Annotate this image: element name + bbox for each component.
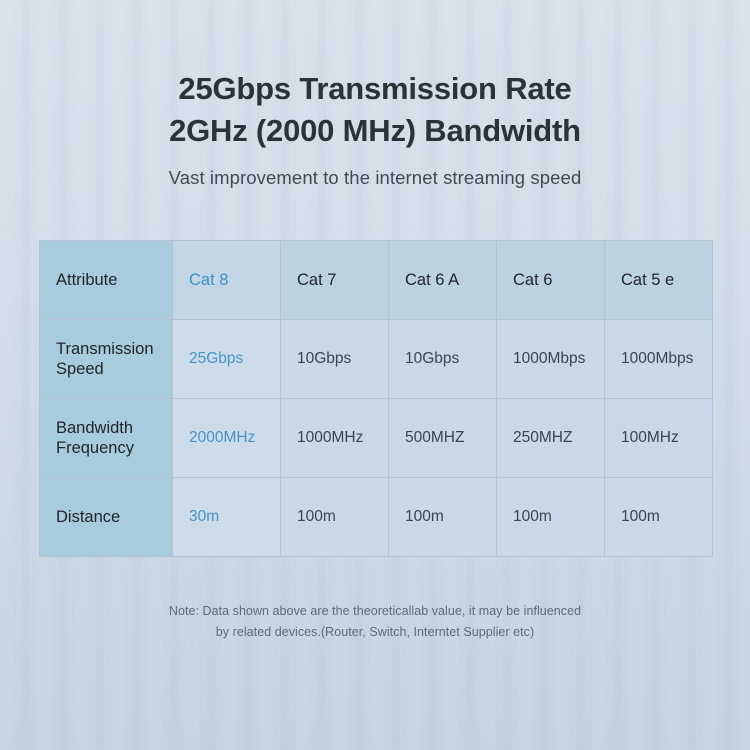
cell-bandwidth-frequency-cat-7: 1000MHz [281, 399, 389, 478]
cell-distance-cat-6a: 100m [389, 478, 497, 557]
cell-transmission-speed-cat-8: 25Gbps [173, 320, 281, 399]
cell-transmission-speed-cat-6a: 10Gbps [389, 320, 497, 399]
cell-bandwidth-frequency-cat-8: 2000MHz [173, 399, 281, 478]
page-subtitle: Vast improvement to the internet streami… [0, 167, 750, 189]
page-title-line-2: 2GHz (2000 MHz) Bandwidth [0, 110, 750, 152]
product-infographic-page: 25Gbps Transmission Rate 2GHz (2000 MHz)… [0, 0, 750, 750]
footnote: Note: Data shown above are the theoretic… [0, 601, 750, 643]
cell-transmission-speed-cat-7: 10Gbps [281, 320, 389, 399]
row-label-distance: Distance [40, 478, 173, 557]
page-title-line-1: 25Gbps Transmission Rate [0, 68, 750, 110]
cell-bandwidth-frequency-cat-6: 250MHZ [497, 399, 605, 478]
column-header-attribute: Attribute [40, 241, 173, 320]
footnote-line-1: Note: Data shown above are the theoretic… [0, 601, 750, 622]
cell-bandwidth-frequency-cat-5e: 100MHz [605, 399, 713, 478]
cell-distance-cat-5e: 100m [605, 478, 713, 557]
cell-distance-cat-8: 30m [173, 478, 281, 557]
headings-block: 25Gbps Transmission Rate 2GHz (2000 MHz)… [0, 68, 750, 189]
row-label-bandwidth-frequency: Bandwidth Frequency [40, 399, 173, 478]
row-label-transmission-speed: Transmission Speed [40, 320, 173, 399]
table-row: Distance 30m 100m 100m 100m 100m [40, 478, 713, 557]
column-header-cat-6: Cat 6 [497, 241, 605, 320]
column-header-cat-5e: Cat 5 e [605, 241, 713, 320]
table-body: Transmission Speed 25Gbps 10Gbps 10Gbps … [40, 320, 713, 557]
table-header-row: Attribute Cat 8 Cat 7 Cat 6 A Cat 6 Cat … [40, 241, 713, 320]
footnote-line-2: by related devices.(Router, Switch, Inte… [0, 622, 750, 643]
column-header-cat-7: Cat 7 [281, 241, 389, 320]
cell-bandwidth-frequency-cat-6a: 500MHZ [389, 399, 497, 478]
row-label-text: Transmission Speed [56, 339, 156, 379]
column-header-cat-6a: Cat 6 A [389, 241, 497, 320]
column-header-cat-8: Cat 8 [173, 241, 281, 320]
cell-transmission-speed-cat-5e: 1000Mbps [605, 320, 713, 399]
cell-distance-cat-7: 100m [281, 478, 389, 557]
table-header: Attribute Cat 8 Cat 7 Cat 6 A Cat 6 Cat … [40, 241, 713, 320]
row-label-text: Distance [56, 507, 156, 527]
cell-distance-cat-6: 100m [497, 478, 605, 557]
table-row: Transmission Speed 25Gbps 10Gbps 10Gbps … [40, 320, 713, 399]
table-row: Bandwidth Frequency 2000MHz 1000MHz 500M… [40, 399, 713, 478]
row-label-text: Bandwidth Frequency [56, 418, 156, 458]
cell-transmission-speed-cat-6: 1000Mbps [497, 320, 605, 399]
specification-comparison-table: Attribute Cat 8 Cat 7 Cat 6 A Cat 6 Cat … [39, 240, 713, 557]
